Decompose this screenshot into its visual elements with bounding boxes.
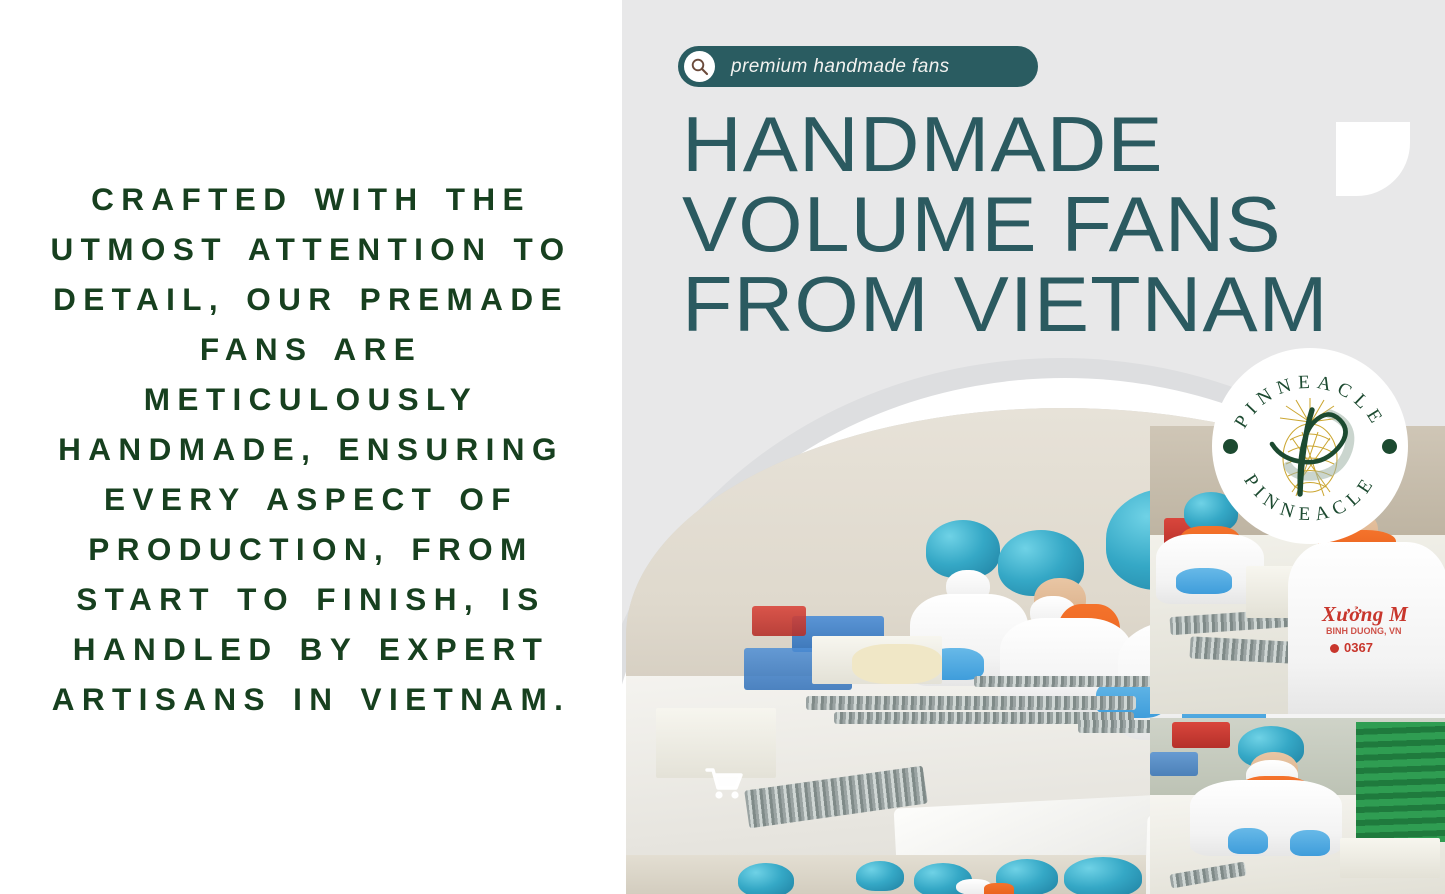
hair-net-icon xyxy=(1064,857,1142,894)
right-bottom-photo xyxy=(1150,718,1445,894)
glove xyxy=(1228,828,1268,854)
bottom-strip-photo xyxy=(626,855,1146,894)
logo-dot-left xyxy=(1223,439,1238,454)
blue-bin xyxy=(1150,752,1198,776)
headline-line-1: Handmade xyxy=(682,104,1445,184)
brand-logo-badge[interactable]: PINNEACLE PINNEACLE xyxy=(1212,348,1408,544)
red-bin xyxy=(752,606,806,636)
page-title: Handmade Volume Fans From Vietnam xyxy=(682,104,1445,344)
green-tray-stack xyxy=(1356,722,1445,842)
headline-line-3: From Vietnam xyxy=(682,264,1445,344)
hair-net-icon xyxy=(738,863,794,894)
search-input-value[interactable]: premium handmade fans xyxy=(731,56,950,78)
metal-rods xyxy=(806,696,1136,710)
glove xyxy=(1290,830,1330,856)
phone-icon xyxy=(1330,644,1339,653)
sponge-block xyxy=(852,644,942,684)
search-icon[interactable] xyxy=(684,51,715,82)
shirt-phone-text: 0367 xyxy=(1344,640,1373,655)
promo-paragraph: Crafted with the utmost attention to det… xyxy=(23,174,599,724)
headline-line-2: Volume Fans xyxy=(682,184,1445,264)
marketing-banner: Crafted with the utmost attention to det… xyxy=(0,0,1445,894)
tray xyxy=(1340,838,1440,878)
logo-dot-right xyxy=(1382,439,1397,454)
shirt-location-text: BINH DUONG, VN xyxy=(1326,626,1402,636)
hair-net-icon xyxy=(856,861,904,891)
red-bin xyxy=(1172,722,1230,748)
glove xyxy=(1176,568,1232,594)
cart-icon xyxy=(704,766,744,800)
search-bar[interactable]: premium handmade fans xyxy=(678,46,1038,87)
shirt-collar xyxy=(984,883,1014,894)
shirt-brand-text: Xưởng M xyxy=(1322,602,1408,627)
left-copy-panel: Crafted with the utmost attention to det… xyxy=(0,0,622,894)
